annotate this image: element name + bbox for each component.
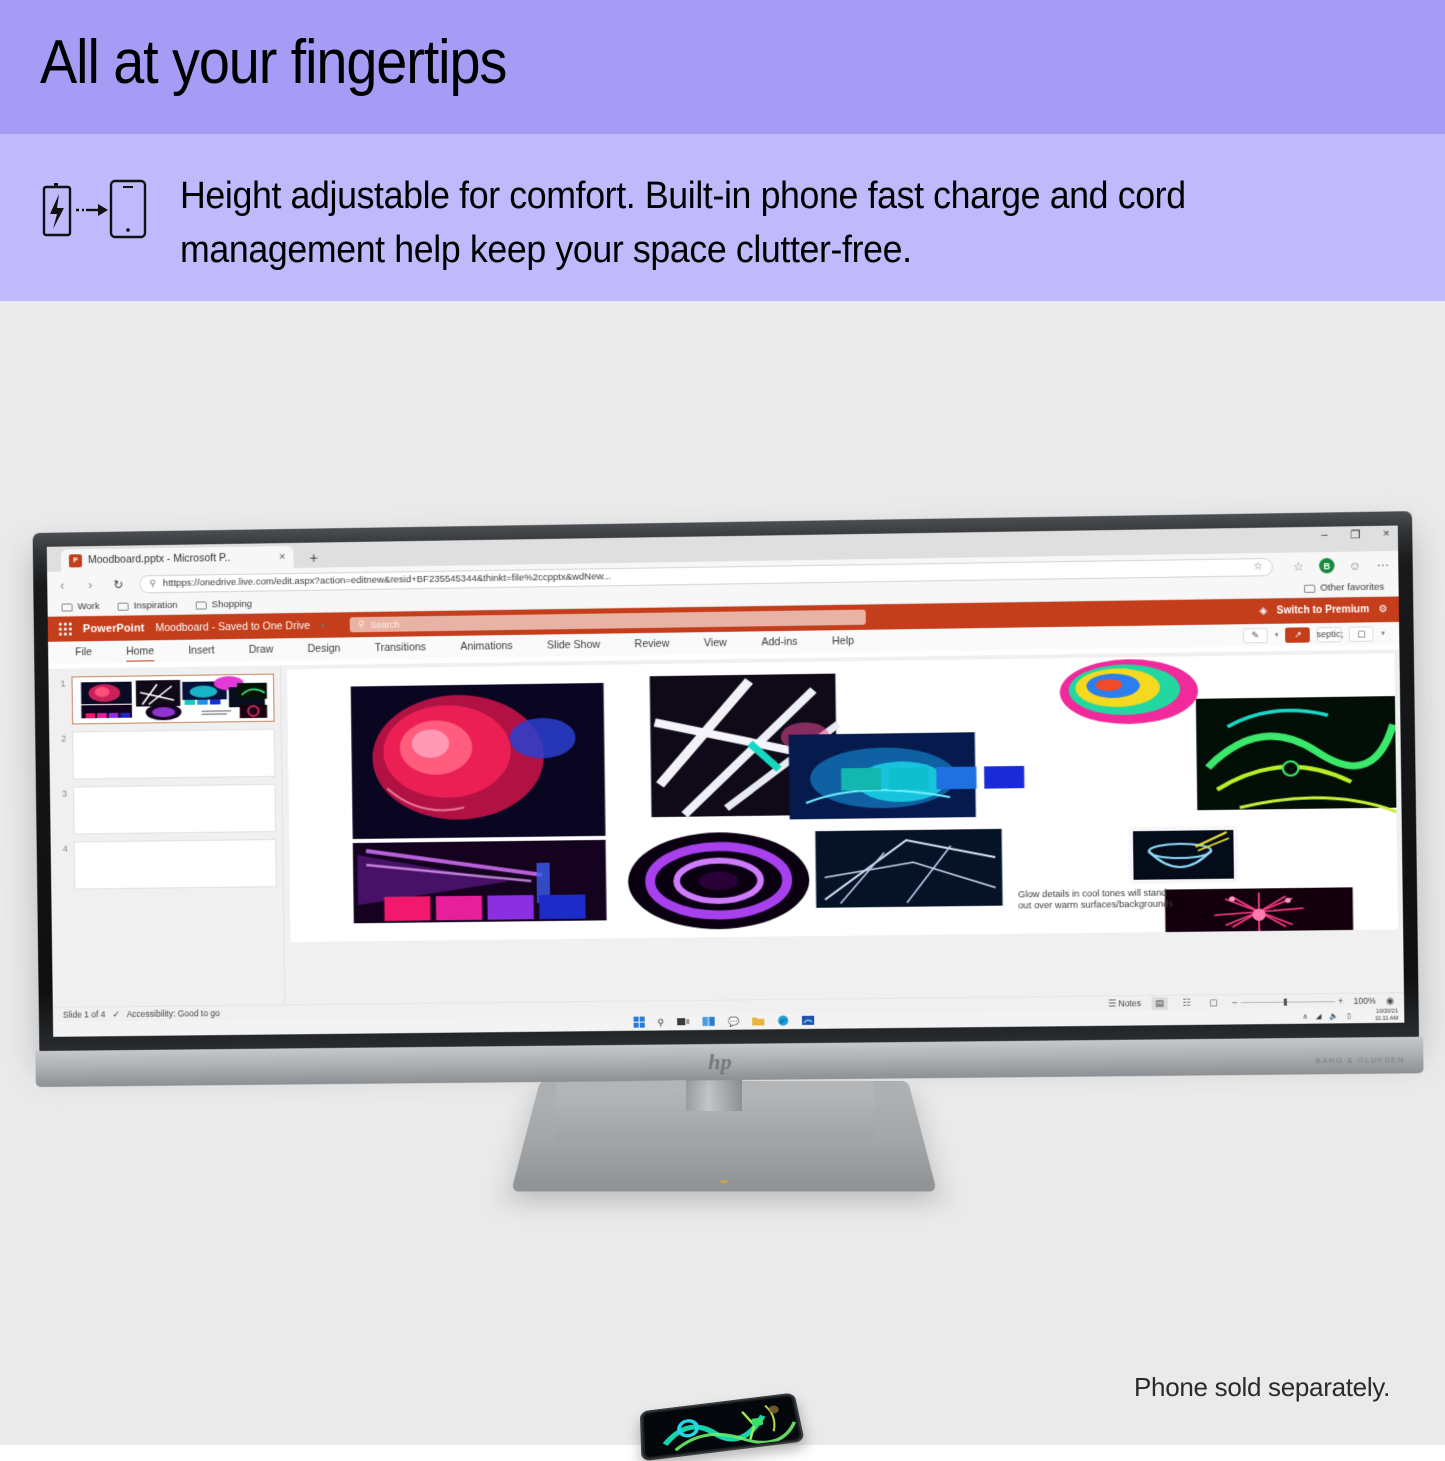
normal-view-button[interactable]: ▤ [1151,996,1168,1009]
moodboard-note-line2: out over warm surfaces/backgrounds [1018,899,1174,911]
chat-icon[interactable]: 💬 [728,1017,740,1028]
system-tray: ∧ ◢ 🔈 ▯ [1302,1008,1351,1024]
slide-thumbnail[interactable] [74,839,277,890]
chevron-up-icon[interactable]: ∧ [1302,1012,1307,1020]
tab-review[interactable]: Review [617,632,687,655]
diamond-icon: ◈ [1259,606,1267,617]
ellipsis-icon[interactable]: ⋯ [1376,558,1391,572]
battery-icon[interactable]: ▯ [1347,1012,1351,1020]
zoom-knob[interactable] [1284,998,1287,1005]
notes-button[interactable]: ☰ Notes [1108,998,1141,1009]
new-tab-button[interactable]: + [310,550,318,568]
tab-transitions[interactable]: Transitions [357,636,443,659]
slide-thumbnail[interactable] [72,729,275,780]
page-title: All at your fingertips [40,28,506,98]
hp-monitor: hp BANG & OLUFSEN P Moodboard.pptx - Mic… [33,511,1419,1053]
tab-design[interactable]: Design [290,637,357,660]
slide-thumb-2[interactable]: 2 [55,729,275,780]
zoom-out-button[interactable]: – [1232,997,1237,1007]
search-icon: ⚲ [149,578,156,589]
banner-subtitle: Height adjustable for comfort. Built-in … [180,169,1289,277]
back-icon[interactable]: ‹ [55,578,69,592]
gear-icon[interactable]: ⚙ [1378,604,1387,615]
star-icon[interactable]: ☆ [1253,561,1262,572]
current-slide[interactable]: Glow details in cool tones will stand ou… [286,653,1397,942]
switch-to-premium-button[interactable]: Switch to Premium [1277,604,1370,617]
fit-slide-icon[interactable]: ◉ [1386,995,1394,1006]
bookmark-label: Shopping [212,599,252,611]
pen-icon[interactable]: ✎ [1243,627,1268,643]
tab-help[interactable]: Help [815,630,872,653]
tab-animations[interactable]: Animations [443,635,530,658]
zoom-in-button[interactable]: + [1338,996,1343,1006]
taskbar-clock[interactable]: 10/20/21 11:11 AM [1375,1008,1398,1023]
bookmark-work[interactable]: Work [61,601,99,613]
edge-icon[interactable] [778,1015,789,1029]
task-view-icon[interactable] [677,1017,689,1029]
folder-icon [196,601,207,609]
comments-icon[interactable]: septic; [1317,626,1342,642]
slide-number: 2 [55,732,66,744]
slide-thumb-1[interactable]: 1 [54,674,274,725]
refresh-icon[interactable]: ↻ [111,577,125,591]
file-explorer-icon[interactable] [753,1016,765,1028]
zoom-slider[interactable]: – + [1232,996,1343,1007]
search-placeholder: Search [371,619,400,629]
slide-thumbnail[interactable] [71,674,274,725]
app-launcher-icon[interactable] [59,622,72,635]
close-window-icon[interactable]: × [1383,528,1390,541]
slide-thumb-4[interactable]: 4 [57,839,277,890]
disclaimer-caption: Phone sold separately. [1134,1372,1390,1403]
slide-canvas-area[interactable]: Glow details in cool tones will stand ou… [281,649,1404,1004]
chevron-down-icon[interactable]: ▾ [1275,631,1279,639]
chevron-down-icon[interactable]: ▾ [1381,629,1385,637]
base-led [720,1180,728,1183]
tab-title: Moodboard.pptx - Microsoft P.. [88,552,231,566]
share-icon[interactable]: ↗ [1286,627,1311,643]
tab-slide-show[interactable]: Slide Show [530,633,618,656]
bookmark-label: Work [77,601,99,612]
tab-file[interactable]: File [58,641,109,664]
taskbar-time: 11:11 AM [1375,1015,1398,1022]
tab-draw[interactable]: Draw [232,638,291,661]
tab-view[interactable]: View [687,632,745,655]
document-title[interactable]: Moodboard - Saved to One Drive [155,619,310,633]
banner-top: All at your fingertips [0,0,1445,134]
search-icon: ⚲ [358,619,365,630]
widgets-icon[interactable] [703,1016,715,1028]
battery-charge-phone-icon [38,172,158,244]
minimize-icon[interactable]: – [1321,529,1327,542]
slide-number: 4 [57,842,68,854]
slide-thumbnail[interactable] [73,784,276,835]
other-favorites[interactable]: Other favorites [1304,582,1385,594]
monitor-screen: P Moodboard.pptx - Microsoft P.. × + – ❐… [47,526,1405,1037]
folder-icon [118,602,129,610]
folder-icon [62,603,73,611]
bookmark-shopping[interactable]: Shopping [196,599,253,611]
ribbon-right-buttons: ✎ ▾ ↗ septic; ▢ ▾ [1243,626,1389,643]
slide-number: 1 [54,677,65,689]
smiley-icon[interactable]: ☺ [1348,558,1363,572]
slide-number: 3 [56,787,67,799]
zoom-track[interactable] [1240,1001,1335,1003]
product-photo: hp BANG & OLUFSEN P Moodboard.pptx - Mic… [0,301,1445,1445]
slide-thumbnail-panel[interactable]: 1 [48,665,285,1006]
browser-tab[interactable]: P Moodboard.pptx - Microsoft P.. × [61,546,294,572]
check-icon: ✓ [112,1009,119,1020]
maximize-icon[interactable]: ❐ [1350,528,1360,541]
forward-icon[interactable]: › [83,578,97,592]
bookmark-label: Inspiration [134,600,178,612]
app-name: PowerPoint [83,622,145,635]
search-icon[interactable]: ⚲ [657,1017,664,1028]
close-icon[interactable]: × [279,551,286,563]
profile-avatar[interactable]: B [1319,558,1335,573]
tab-insert[interactable]: Insert [171,639,232,662]
browser-toolbar-right: ☆ B ☺ ⋯ [1287,557,1390,574]
tab-add-ins[interactable]: Add-ins [744,631,815,654]
window-controls: – ❐ × [1321,528,1389,542]
ppt-search-box[interactable]: ⚲ Search [350,610,866,633]
banner-subtitle-area: Height adjustable for comfort. Built-in … [0,134,1445,301]
powerpoint-icon: P [69,554,82,567]
slide-sorter-view-button[interactable]: ☷ [1178,996,1195,1009]
tab-home[interactable]: Home [109,640,171,663]
store-icon[interactable] [802,1015,814,1027]
reading-view-button[interactable]: ▢ [1205,996,1222,1009]
zoom-level: 100% [1353,996,1375,1006]
accessibility-status[interactable]: Accessibility: Good to go [127,1008,220,1019]
address-url: htttpps://onedrive.live.com/edit.aspx?ac… [163,571,611,589]
moodboard-note-line1: Glow details in cool tones will stand [1017,888,1166,899]
ppt-editor: 1 [48,649,1404,1007]
network-icon[interactable]: ◢ [1316,1012,1322,1020]
other-favorites-label: Other favorites [1320,582,1384,594]
hp-logo: hp [708,1049,732,1075]
phone-on-charger [640,1393,805,1461]
bang-olufsen-logo: BANG & OLUFSEN [1315,1055,1405,1065]
volume-icon[interactable]: 🔈 [1330,1012,1339,1020]
ppt-titlebar-right: ◈ Switch to Premium ⚙ [1259,604,1387,617]
moodboard-artwork: Glow details in cool tones will stand ou… [286,653,1397,942]
phone-screen [644,1396,800,1457]
slide-thumb-3[interactable]: 3 [56,784,276,835]
start-icon[interactable] [633,1016,644,1030]
chevron-down-icon[interactable]: ▾ [321,621,325,629]
folder-icon [1304,584,1315,592]
slide-count: Slide 1 of 4 [63,1009,106,1019]
bookmark-inspiration[interactable]: Inspiration [118,600,178,612]
present-icon[interactable]: ▢ [1349,626,1374,642]
star-list-icon[interactable]: ☆ [1291,559,1306,573]
